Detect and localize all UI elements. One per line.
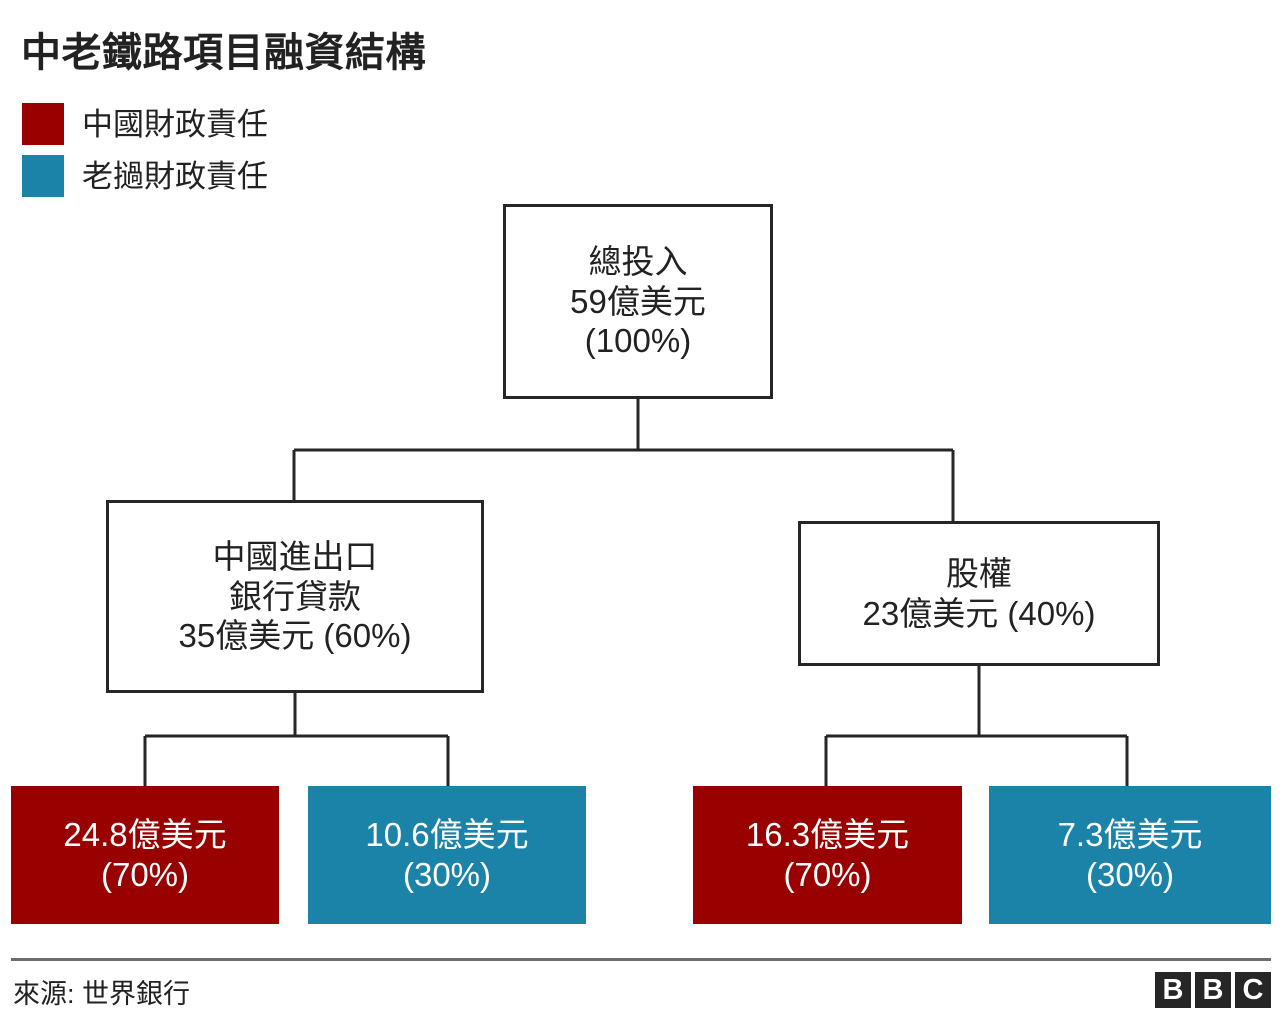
source-label: 來源: 世界銀行: [13, 972, 190, 1011]
bbc-logo-letter: B: [1195, 972, 1231, 1008]
node-line: 16.3億美元: [746, 815, 909, 855]
legend-item-laos: 老撾財政責任: [22, 155, 268, 197]
node-line: 23億美元 (40%): [863, 594, 1096, 634]
node-equity: 股權 23億美元 (40%): [798, 521, 1160, 666]
node-loan-laos-share: 10.6億美元 (30%): [308, 786, 586, 924]
node-line: (70%): [783, 855, 871, 895]
bbc-logo: B B C: [1155, 972, 1271, 1008]
node-line: (30%): [403, 855, 491, 895]
node-line: 總投入: [589, 242, 688, 282]
footer-divider: [11, 958, 1271, 961]
node-loan-china-share: 24.8億美元 (70%): [11, 786, 279, 924]
node-total-investment: 總投入 59億美元 (100%): [503, 204, 773, 399]
node-line: 股權: [946, 554, 1012, 594]
legend: 中國財政責任 老撾財政責任: [22, 103, 268, 207]
node-line: (70%): [101, 855, 189, 895]
node-equity-china-share: 16.3億美元 (70%): [693, 786, 962, 924]
node-line: 59億美元: [570, 282, 706, 322]
legend-item-china: 中國財政責任: [22, 103, 268, 145]
laos-swatch-icon: [22, 155, 64, 197]
legend-item-label: 老撾財政責任: [82, 161, 268, 192]
node-line: 銀行貸款: [229, 577, 361, 617]
node-line: 中國進出口: [213, 537, 378, 577]
node-line: (100%): [585, 321, 691, 361]
china-swatch-icon: [22, 103, 64, 145]
node-line: 35億美元 (60%): [179, 616, 412, 656]
page-title: 中老鐵路項目融資結構: [21, 20, 426, 78]
node-line: 24.8億美元: [63, 815, 226, 855]
legend-item-label: 中國財政責任: [82, 109, 268, 140]
bbc-logo-letter: B: [1155, 972, 1191, 1008]
node-line: 7.3億美元: [1058, 815, 1203, 855]
bbc-logo-letter: C: [1235, 972, 1271, 1008]
node-line: 10.6億美元: [365, 815, 528, 855]
node-line: (30%): [1086, 855, 1174, 895]
infographic-canvas: 中老鐵路項目融資結構 中國財政責任 老撾財政責任: [0, 0, 1282, 1020]
node-exim-bank-loan: 中國進出口 銀行貸款 35億美元 (60%): [106, 500, 484, 693]
node-equity-laos-share: 7.3億美元 (30%): [989, 786, 1271, 924]
